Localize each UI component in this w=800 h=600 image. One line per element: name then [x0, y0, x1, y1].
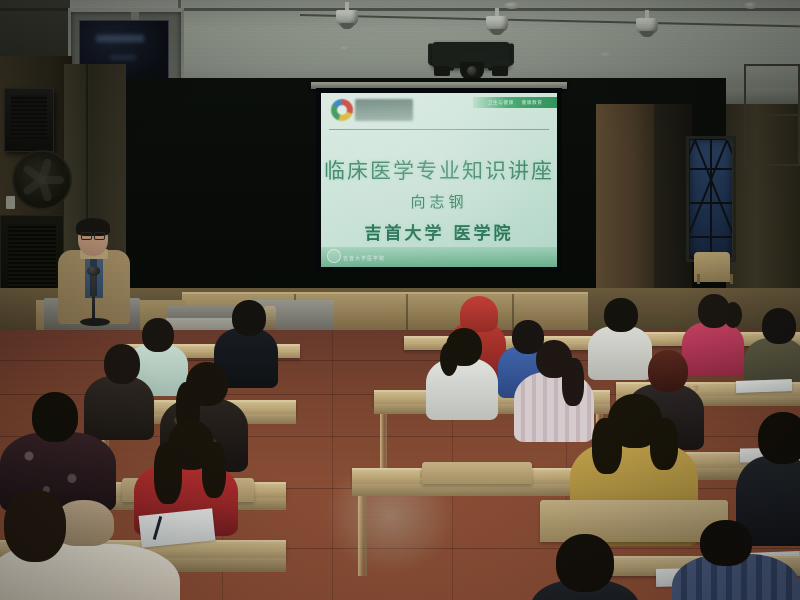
wood-pillar [596, 104, 656, 300]
spotlight-lens [490, 29, 504, 35]
projection-screen: 卫生与健康 健康教育 临床医学专业知识讲座 向志钢 吉首大学 医学院 吉首大学医… [321, 93, 557, 267]
ceiling-vent [600, 52, 612, 57]
side-chair [694, 252, 730, 282]
slide-divider [329, 129, 549, 130]
slide-footer-seal-icon [327, 249, 341, 263]
slide-header: 卫生与健康 健康教育 [321, 93, 557, 129]
notebook-paper [736, 379, 792, 393]
university-logo-icon [331, 99, 353, 121]
microphone-base [80, 318, 110, 326]
ceiling-spotlight [486, 8, 508, 36]
seat-back [422, 462, 532, 484]
slide-banner: 卫生与健康 健康教育 [473, 97, 557, 108]
tv-screen-glow [96, 35, 144, 42]
ceiling-spotlight [336, 2, 358, 30]
projector-lens [467, 66, 477, 76]
ceiling-projector [432, 42, 510, 82]
lecturer-glasses [81, 232, 105, 238]
ceiling-vent [744, 2, 758, 9]
window-frame [686, 136, 736, 262]
slide-banner-left-text: 卫生与健康 [488, 99, 514, 106]
tv-screen-glow-secondary [110, 55, 136, 60]
ceiling-spotlight [636, 10, 658, 38]
slide-footer-text: 吉首大学医学院 [343, 255, 385, 262]
right-wall-shelf [744, 64, 800, 166]
spotlight-lens [340, 23, 354, 29]
university-logo-wordmark [355, 99, 413, 121]
ceiling-vent [504, 2, 520, 9]
slide-banner-right-text: 健康教育 [521, 99, 542, 106]
spotlight-lens [640, 31, 654, 37]
slide-title: 临床医学专业知识讲座 [321, 155, 557, 185]
wall-switch[interactable] [6, 196, 15, 209]
slide-presenter-name: 向志钢 [321, 191, 557, 212]
projector-foot [434, 66, 450, 76]
ceiling-vent [340, 46, 350, 51]
microphone-head [87, 266, 100, 276]
wall-fan [12, 150, 72, 210]
slide-organization: 吉首大学 医学院 [321, 219, 557, 244]
microphone-stand [92, 272, 95, 322]
wall-speaker [4, 88, 54, 152]
slide-footer: 吉首大学医学院 [321, 247, 557, 267]
projector-foot [492, 66, 508, 76]
lecture-hall-photo: 卫生与健康 健康教育 临床医学专业知识讲座 向志钢 吉首大学 医学院 吉首大学医… [0, 0, 800, 600]
